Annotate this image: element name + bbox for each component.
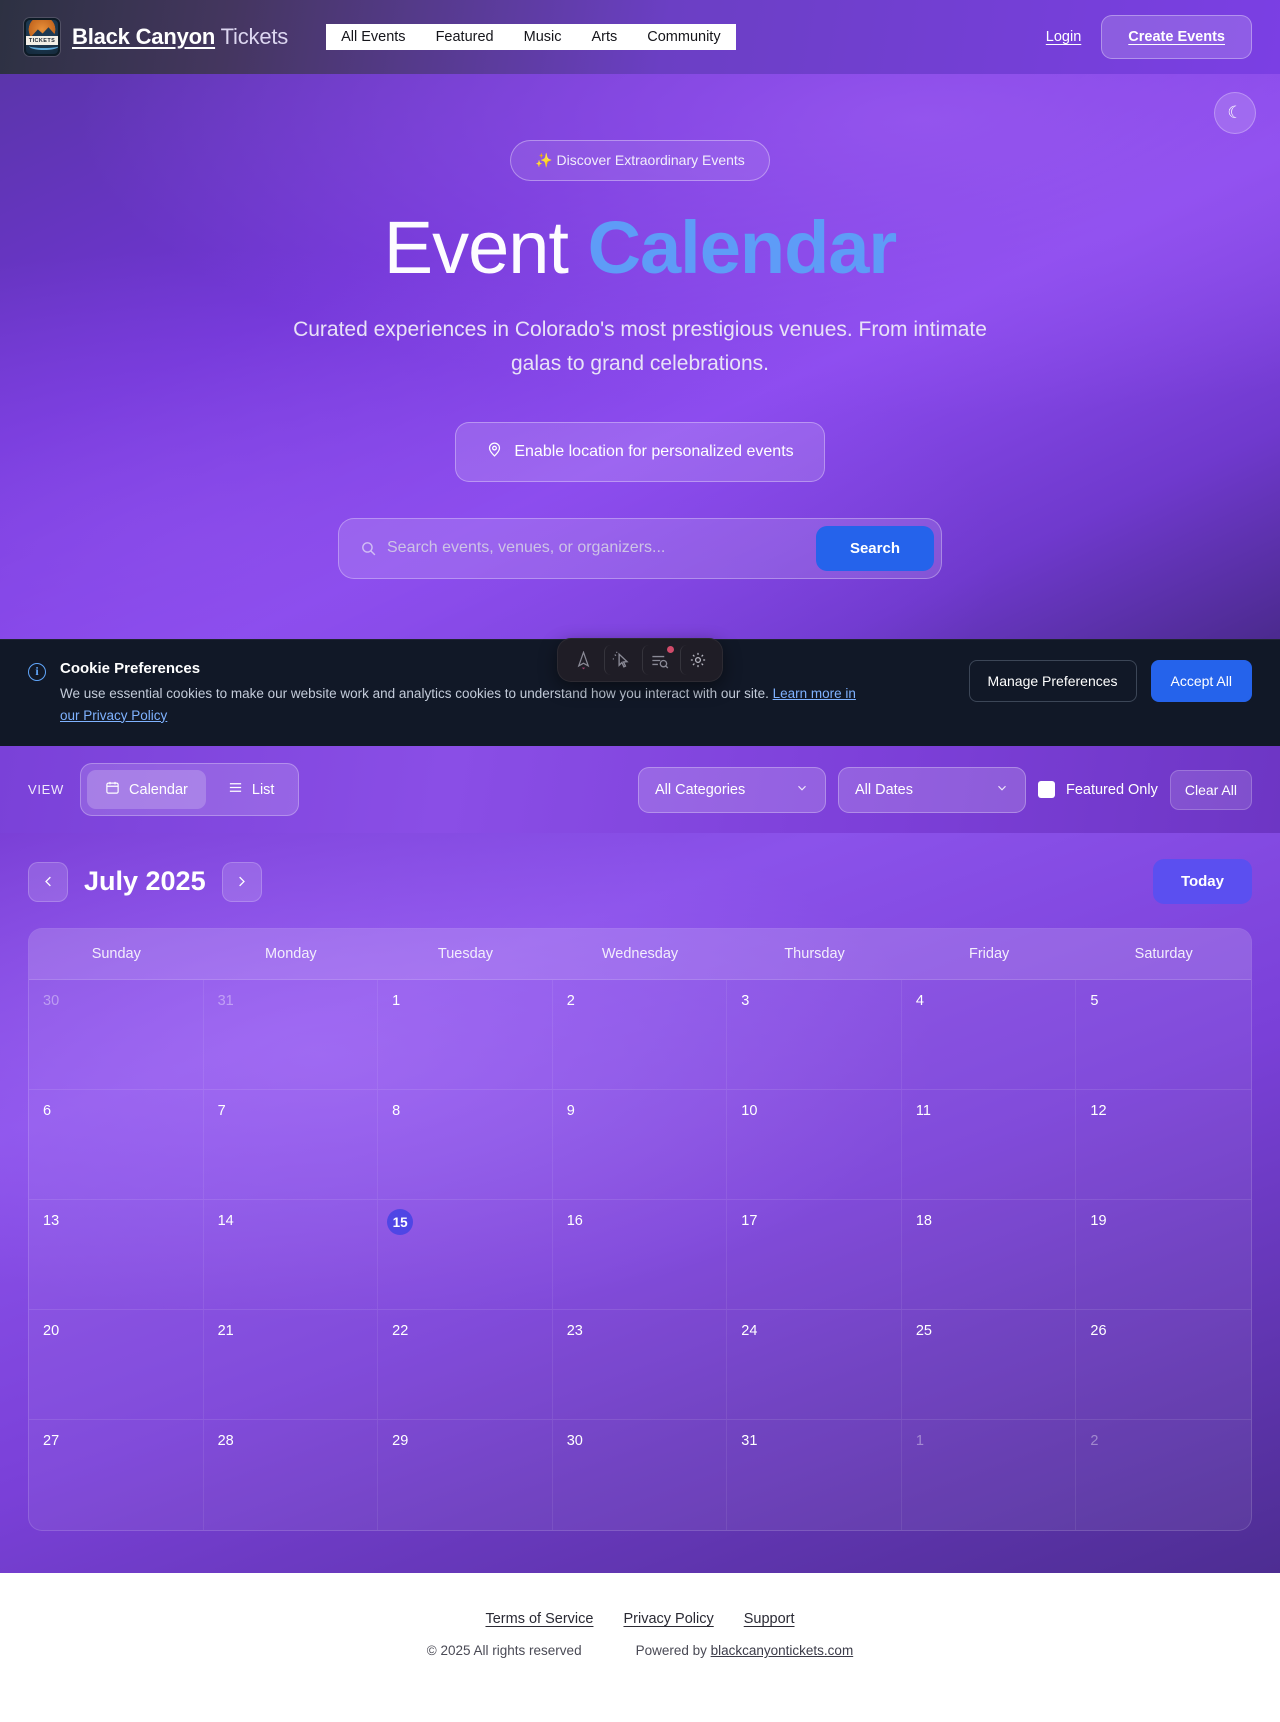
calendar-day-cell[interactable]: 14 — [204, 1200, 379, 1309]
calendar-day-number: 31 — [218, 993, 234, 1009]
calendar-week-row: 303112345 — [29, 980, 1251, 1090]
audit-list-search-icon[interactable] — [642, 645, 676, 675]
date-select[interactable]: All Dates — [838, 767, 1026, 813]
login-link[interactable]: Login — [1046, 29, 1081, 45]
calendar-day-cell[interactable]: 15 — [378, 1200, 553, 1309]
calendar-day-number: 25 — [916, 1323, 932, 1339]
view-toggle-group: Calendar List — [80, 763, 299, 816]
page-title: Event Calendar — [0, 209, 1280, 287]
calendar-day-cell[interactable]: 27 — [29, 1420, 204, 1530]
astro-logo-icon[interactable] — [566, 645, 600, 675]
manage-preferences-button[interactable]: Manage Preferences — [969, 660, 1137, 702]
featured-only-filter: Featured Only — [1038, 781, 1158, 798]
calendar-day-cell[interactable]: 29 — [378, 1420, 553, 1530]
day-name-wednesday: Wednesday — [553, 929, 728, 979]
next-month-button[interactable] — [222, 862, 262, 902]
calendar-day-number: 18 — [916, 1213, 932, 1229]
calendar-day-cell[interactable]: 22 — [378, 1310, 553, 1419]
calendar-day-cell[interactable]: 26 — [1076, 1310, 1251, 1419]
calendar-weeks: 3031123456789101112131415161718192021222… — [29, 980, 1251, 1530]
cookie-banner-title: Cookie Preferences — [60, 660, 860, 677]
nav-item-arts[interactable]: Arts — [576, 24, 632, 50]
page-title-accent: Calendar — [588, 206, 897, 289]
category-select-value: All Categories — [655, 782, 745, 798]
discover-badge-label: ✨ Discover Extraordinary Events — [535, 152, 745, 169]
nav-item-featured[interactable]: Featured — [421, 24, 509, 50]
calendar-day-cell[interactable]: 4 — [902, 980, 1077, 1089]
hero-section: ☾ ✨ Discover Extraordinary Events Event … — [0, 74, 1280, 639]
calendar-day-number: 2 — [1090, 1433, 1098, 1449]
calendar-day-cell[interactable]: 30 — [553, 1420, 728, 1530]
page-title-plain: Event — [384, 206, 568, 289]
day-name-thursday: Thursday — [727, 929, 902, 979]
calendar-day-number: 16 — [567, 1213, 583, 1229]
calendar-day-cell[interactable]: 2 — [1076, 1420, 1251, 1530]
site-footer: Terms of Service Privacy Policy Support … — [0, 1573, 1280, 1692]
footer-link-privacy[interactable]: Privacy Policy — [623, 1611, 713, 1627]
calendar-day-number: 17 — [741, 1213, 757, 1229]
black-canyon-badge-icon: TICKETS — [24, 18, 60, 56]
calendar-day-number: 9 — [567, 1103, 575, 1119]
calendar-grid: Sunday Monday Tuesday Wednesday Thursday… — [28, 928, 1252, 1531]
search-bar: Search — [338, 518, 942, 579]
enable-location-button[interactable]: Enable location for personalized events — [455, 422, 824, 482]
calendar-day-cell[interactable]: 6 — [29, 1090, 204, 1199]
calendar-day-cell[interactable]: 24 — [727, 1310, 902, 1419]
category-select[interactable]: All Categories — [638, 767, 826, 813]
astro-dev-toolbar — [557, 638, 723, 682]
calendar-week-row: 13141516171819 — [29, 1200, 1251, 1310]
footer-powered-link[interactable]: blackcanyontickets.com — [711, 1643, 854, 1658]
nav-item-community[interactable]: Community — [632, 24, 735, 50]
cookie-banner-actions: Manage Preferences Accept All — [969, 660, 1252, 702]
calendar-day-cell[interactable]: 31 — [727, 1420, 902, 1530]
footer-copyright: © 2025 All rights reserved — [427, 1643, 582, 1658]
calendar-day-cell[interactable]: 11 — [902, 1090, 1077, 1199]
calendar-day-number: 12 — [1090, 1103, 1106, 1119]
search-input[interactable] — [387, 539, 806, 557]
calendar-day-cell[interactable]: 19 — [1076, 1200, 1251, 1309]
calendar-day-cell[interactable]: 1 — [378, 980, 553, 1089]
calendar-day-cell[interactable]: 10 — [727, 1090, 902, 1199]
calendar-week-row: 6789101112 — [29, 1090, 1251, 1200]
cookie-text-body: We use essential cookies to make our web… — [60, 686, 773, 701]
calendar-day-cell[interactable]: 8 — [378, 1090, 553, 1199]
calendar-day-cell[interactable]: 18 — [902, 1200, 1077, 1309]
calendar-day-number: 30 — [567, 1433, 583, 1449]
footer-link-support[interactable]: Support — [744, 1611, 795, 1627]
info-icon: i — [28, 663, 46, 681]
calendar-today-marker: 15 — [387, 1209, 413, 1235]
hero-subtitle: Curated experiences in Colorado's most p… — [290, 313, 990, 382]
calendar-week-row: 20212223242526 — [29, 1310, 1251, 1420]
calendar-day-cell[interactable]: 13 — [29, 1200, 204, 1309]
calendar-day-cell[interactable]: 16 — [553, 1200, 728, 1309]
calendar-day-cell[interactable]: 1 — [902, 1420, 1077, 1530]
footer-powered-by: Powered by blackcanyontickets.com — [636, 1643, 854, 1658]
calendar-day-number: 20 — [43, 1323, 59, 1339]
header-actions: Login Create Events — [1046, 15, 1252, 59]
footer-link-terms[interactable]: Terms of Service — [485, 1611, 593, 1627]
calendar-day-cell[interactable]: 3 — [727, 980, 902, 1089]
enable-location-label: Enable location for personalized events — [514, 443, 793, 461]
calendar-header: July 2025 Today — [28, 859, 1252, 904]
brand-title-bold: Black Canyon — [72, 24, 215, 49]
day-name-tuesday: Tuesday — [378, 929, 553, 979]
calendar-day-cell[interactable]: 28 — [204, 1420, 379, 1530]
chevron-down-icon — [995, 781, 1009, 799]
view-toggle-list[interactable]: List — [210, 770, 293, 809]
calendar-icon — [105, 780, 120, 799]
cookie-banner-text: We use essential cookies to make our web… — [60, 683, 860, 726]
calendar-day-number: 1 — [392, 993, 400, 1009]
calendar-day-number: 4 — [916, 993, 924, 1009]
calendar-day-cell[interactable]: 7 — [204, 1090, 379, 1199]
calendar-day-number: 29 — [392, 1433, 408, 1449]
location-pin-icon — [486, 441, 503, 463]
moon-icon[interactable]: ☾ — [1214, 92, 1256, 134]
calendar-day-number: 6 — [43, 1103, 51, 1119]
page-root: TICKETS Black Canyon Tickets All Events … — [0, 0, 1280, 1692]
prev-month-button[interactable] — [28, 862, 68, 902]
footer-powered-prefix: Powered by — [636, 1643, 711, 1658]
calendar-day-number: 3 — [741, 993, 749, 1009]
filter-bar: VIEW Calendar List — [0, 746, 1280, 833]
calendar-day-cell[interactable]: 9 — [553, 1090, 728, 1199]
nav-item-music[interactable]: Music — [509, 24, 577, 50]
calendar-week-row: 272829303112 — [29, 1420, 1251, 1530]
day-name-sunday: Sunday — [29, 929, 204, 979]
brand-title-light: Tickets — [215, 24, 288, 49]
create-events-button[interactable]: Create Events — [1101, 15, 1252, 59]
calendar-day-number: 24 — [741, 1323, 757, 1339]
calendar-day-cell[interactable]: 20 — [29, 1310, 204, 1419]
discover-badge: ✨ Discover Extraordinary Events — [510, 140, 770, 181]
calendar-section: July 2025 Today Sunday Monday Tuesday We… — [0, 833, 1280, 1573]
view-toggle-calendar-label: Calendar — [129, 782, 188, 798]
audit-badge — [667, 646, 674, 653]
cookie-banner-body: Cookie Preferences We use essential cook… — [60, 660, 860, 726]
calendar-day-number: 8 — [392, 1103, 400, 1119]
settings-gear-icon[interactable] — [680, 645, 714, 675]
calendar-day-number: 21 — [218, 1323, 234, 1339]
featured-only-checkbox[interactable] — [1038, 781, 1055, 798]
chevron-down-icon — [795, 781, 809, 799]
day-name-friday: Friday — [902, 929, 1077, 979]
filter-controls: All Categories All Dates Featured Only C… — [638, 767, 1252, 813]
month-title: July 2025 — [84, 866, 206, 897]
calendar-day-number: 23 — [567, 1323, 583, 1339]
calendar-day-cell[interactable]: 2 — [553, 980, 728, 1089]
calendar-day-number: 30 — [43, 993, 59, 1009]
inspect-cursor-icon[interactable] — [604, 645, 638, 675]
calendar-day-number: 1 — [916, 1433, 924, 1449]
calendar-day-number: 13 — [43, 1213, 59, 1229]
footer-bottom: © 2025 All rights reserved Powered by bl… — [0, 1643, 1280, 1658]
calendar-day-number: 31 — [741, 1433, 757, 1449]
nav-item-all-events[interactable]: All Events — [326, 24, 420, 50]
day-name-saturday: Saturday — [1076, 929, 1251, 979]
calendar-day-number: 7 — [218, 1103, 226, 1119]
date-select-value: All Dates — [855, 782, 913, 798]
site-header: TICKETS Black Canyon Tickets All Events … — [0, 0, 1280, 74]
calendar-day-number: 5 — [1090, 993, 1098, 1009]
calendar-day-number: 19 — [1090, 1213, 1106, 1229]
calendar-day-cell[interactable]: 25 — [902, 1310, 1077, 1419]
calendar-day-cell[interactable]: 21 — [204, 1310, 379, 1419]
calendar-day-number: 2 — [567, 993, 575, 1009]
view-toggle-calendar[interactable]: Calendar — [87, 770, 206, 809]
calendar-day-number: 14 — [218, 1213, 234, 1229]
calendar-day-number: 28 — [218, 1433, 234, 1449]
calendar-day-number: 27 — [43, 1433, 59, 1449]
calendar-day-names-row: Sunday Monday Tuesday Wednesday Thursday… — [29, 929, 1251, 980]
view-label: VIEW — [28, 782, 64, 797]
theme-toggle-glyph: ☾ — [1227, 103, 1242, 123]
footer-links: Terms of Service Privacy Policy Support — [0, 1611, 1280, 1627]
featured-only-label: Featured Only — [1066, 782, 1158, 798]
clear-all-button[interactable]: Clear All — [1170, 770, 1252, 810]
today-button[interactable]: Today — [1153, 859, 1252, 904]
calendar-day-cell[interactable]: 17 — [727, 1200, 902, 1309]
brand-title: Black Canyon Tickets — [72, 24, 288, 50]
calendar-day-cell[interactable]: 30 — [29, 980, 204, 1089]
calendar-day-cell[interactable]: 23 — [553, 1310, 728, 1419]
calendar-day-number: 26 — [1090, 1323, 1106, 1339]
view-toggle-list-label: List — [252, 782, 275, 798]
primary-nav: All Events Featured Music Arts Community — [326, 24, 736, 50]
list-icon — [228, 780, 243, 799]
accept-all-button[interactable]: Accept All — [1151, 660, 1252, 702]
calendar-day-cell[interactable]: 31 — [204, 980, 379, 1089]
brand-logo[interactable]: TICKETS Black Canyon Tickets — [24, 18, 288, 56]
day-name-monday: Monday — [204, 929, 379, 979]
search-icon — [360, 540, 377, 557]
calendar-day-number: 22 — [392, 1323, 408, 1339]
calendar-day-cell[interactable]: 12 — [1076, 1090, 1251, 1199]
calendar-day-cell[interactable]: 5 — [1076, 980, 1251, 1089]
calendar-day-number: 11 — [916, 1103, 931, 1119]
search-button[interactable]: Search — [816, 526, 934, 571]
calendar-day-number: 10 — [741, 1103, 757, 1119]
